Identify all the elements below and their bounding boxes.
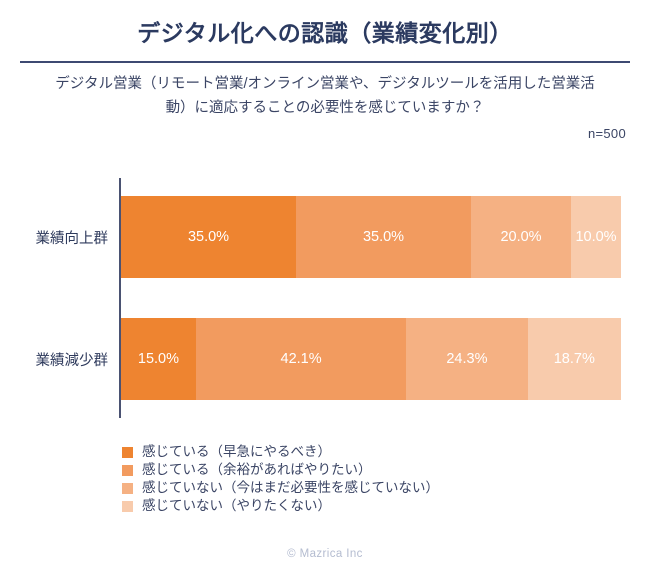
- legend-label: 感じている（余裕があればやりたい）: [142, 461, 372, 479]
- legend-item[interactable]: 感じている（早急にやるべき）: [122, 443, 582, 461]
- legend-item[interactable]: 感じている（余裕があればやりたい）: [122, 461, 582, 479]
- bar-segment-value: 24.3%: [446, 351, 487, 367]
- bar-segment-value: 10.0%: [575, 229, 616, 245]
- bar-segment: 35.0%: [296, 196, 471, 278]
- bar-segment-value: 35.0%: [188, 229, 229, 245]
- chart-subtitle: デジタル営業（リモート営業/オンライン営業や、デジタルツールを活用した営業活動）…: [55, 72, 595, 120]
- legend-item[interactable]: 感じていない（今はまだ必要性を感じていない）: [122, 479, 582, 497]
- legend-label: 感じていない（やりたくない）: [142, 497, 331, 515]
- bar-segment-value: 42.1%: [281, 351, 322, 367]
- legend-swatch-icon: [122, 465, 133, 476]
- page-title: デジタル化への認識（業績変化別）: [0, 14, 650, 48]
- sample-size-label: n=500: [588, 126, 626, 141]
- stacked-bar: 35.0%35.0%20.0%10.0%: [121, 196, 621, 278]
- bar-segment-value: 20.0%: [500, 229, 541, 245]
- bar-segment: 24.3%: [406, 318, 527, 400]
- chart-legend: 感じている（早急にやるべき）感じている（余裕があればやりたい）感じていない（今は…: [122, 443, 582, 515]
- legend-label: 感じていない（今はまだ必要性を感じていない）: [142, 479, 439, 497]
- chart-page: デジタル化への認識（業績変化別） デジタル営業（リモート営業/オンライン営業や、…: [0, 0, 650, 580]
- legend-swatch-icon: [122, 501, 133, 512]
- legend-swatch-icon: [122, 447, 133, 458]
- bar-segment: 35.0%: [121, 196, 296, 278]
- legend-item[interactable]: 感じていない（やりたくない）: [122, 497, 582, 515]
- bar-segment: 18.7%: [528, 318, 621, 400]
- title-divider: [20, 61, 630, 63]
- bar-segment-value: 15.0%: [138, 351, 179, 367]
- bar-segment-value: 18.7%: [554, 351, 595, 367]
- legend-label: 感じている（早急にやるべき）: [142, 443, 331, 461]
- bar-segment: 10.0%: [571, 196, 621, 278]
- category-label: 業績向上群: [0, 196, 108, 278]
- category-label: 業績減少群: [0, 318, 108, 400]
- legend-swatch-icon: [122, 483, 133, 494]
- bar-segment-value: 35.0%: [363, 229, 404, 245]
- bar-segment: 15.0%: [121, 318, 196, 400]
- bar-segment: 42.1%: [196, 318, 406, 400]
- bar-segment: 20.0%: [471, 196, 571, 278]
- chart-plot-area: 業績向上群35.0%35.0%20.0%10.0%業績減少群15.0%42.1%…: [0, 170, 650, 420]
- stacked-bar: 15.0%42.1%24.3%18.7%: [121, 318, 621, 400]
- footer-copyright: © Mazrica Inc: [0, 548, 650, 560]
